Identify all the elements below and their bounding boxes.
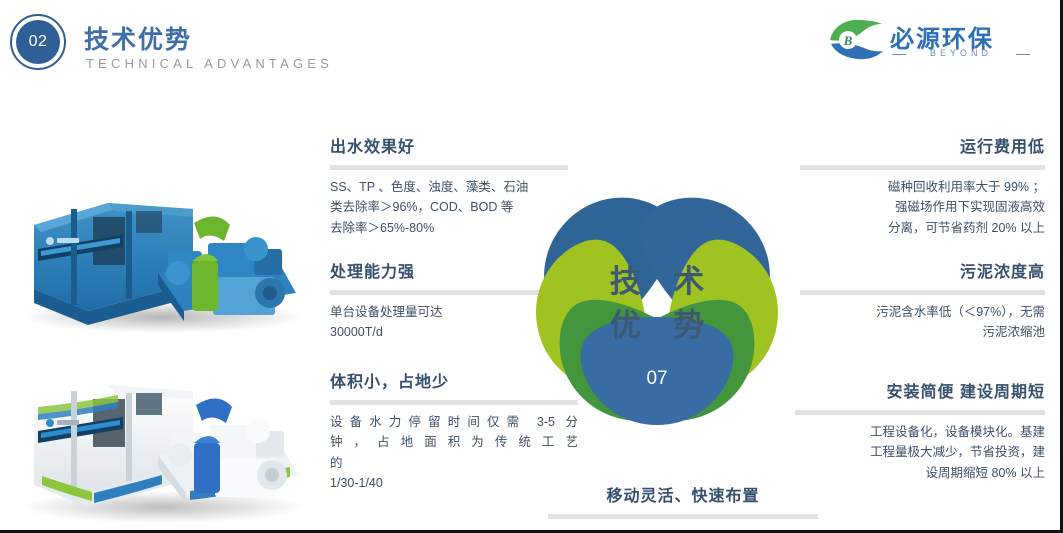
- feature-body-line: 强磁场作用下实现固液高效: [895, 200, 1045, 214]
- equipment-photo-blue: [8, 165, 318, 340]
- feature-body-line: 工程量极大减少，节省投资，建: [870, 445, 1045, 459]
- feature-block-06: 安装简便 建设周期短 工程设备化，设备模块化。基建 工程量极大减少，节省投资，建…: [795, 378, 1045, 483]
- equipment-photo-white: [8, 345, 318, 530]
- page-title: 技术优势: [84, 20, 192, 56]
- feature-body-line: 类去除率＞96%，COD、BOD 等: [330, 200, 513, 214]
- badge-number: 02: [16, 20, 60, 64]
- feature-divider: [800, 165, 1045, 170]
- feature-divider: [548, 514, 818, 519]
- feature-body-line: 单台设备处理量可达: [330, 305, 443, 319]
- petal-07-label: 07: [646, 368, 667, 389]
- feature-body-line: 磁种回收利用率大于 99% ；: [888, 180, 1045, 194]
- feature-body: 污泥含水率低（＜97%），无需 污泥浓缩池: [800, 302, 1045, 343]
- feature-block-04: 运行费用低 磁种回收利用率大于 99% ； 强磁场作用下实现固液高效 分离，可节…: [800, 133, 1045, 238]
- slide-canvas: 02 技术优势 TECHNICAL ADVANTAGES B 必源环保 BEYO…: [0, 0, 1063, 533]
- feature-body: 磁种回收利用率大于 99% ； 强磁场作用下实现固液高效 分离，可节省药剂 20…: [800, 177, 1045, 238]
- feature-body-line: 去除率＞65%-80%: [330, 221, 434, 235]
- page-subtitle: TECHNICAL ADVANTAGES: [86, 56, 333, 71]
- feature-title: 移动灵活、快速布置: [548, 482, 818, 506]
- diagram-core-line-1: 技 术: [497, 256, 817, 301]
- logo-leaf-wave-icon: B: [828, 18, 884, 64]
- feature-body-line: 30000T/d: [330, 325, 383, 339]
- feature-body-line: 污泥含水率低（＜97%），无需: [876, 305, 1045, 319]
- company-logo: B 必源环保 BEYOND: [828, 16, 1028, 68]
- feature-body-line: 设周期缩短 80% 以上: [926, 466, 1045, 480]
- technical-advantages-petal-diagram: 03 04 02 05: [497, 143, 817, 463]
- feature-title: 污泥浓度高: [800, 258, 1045, 282]
- feature-body-line: 工程设备化，设备模块化。基建: [870, 425, 1045, 439]
- feature-block-07: 移动灵活、快速布置: [548, 482, 818, 526]
- feature-body-line: 污泥浓缩池: [982, 325, 1045, 339]
- feature-divider: [795, 410, 1045, 415]
- feature-body: 工程设备化，设备模块化。基建 工程量极大减少，节省投资，建 设周期缩短 80% …: [795, 422, 1045, 483]
- equipment-photo-white-graphic: [8, 345, 318, 530]
- diagram-core-line-2: 优 势: [497, 300, 817, 345]
- section-number-badge: 02: [10, 14, 68, 72]
- feature-divider: [800, 290, 1045, 295]
- feature-title: 安装简便 建设周期短: [795, 378, 1045, 402]
- feature-body-line: 1/30-1/40: [330, 476, 383, 490]
- feature-block-05: 污泥浓度高 污泥含水率低（＜97%），无需 污泥浓缩池: [800, 258, 1045, 343]
- feature-body-line: 的: [330, 456, 343, 470]
- feature-title: 运行费用低: [800, 133, 1045, 157]
- logo-letter: B: [843, 33, 853, 48]
- logo-brand-en: BEYOND: [894, 48, 1028, 58]
- feature-body-line: 分离，可节省药剂 20% 以上: [888, 221, 1045, 235]
- equipment-photo-blue-graphic: [8, 165, 318, 340]
